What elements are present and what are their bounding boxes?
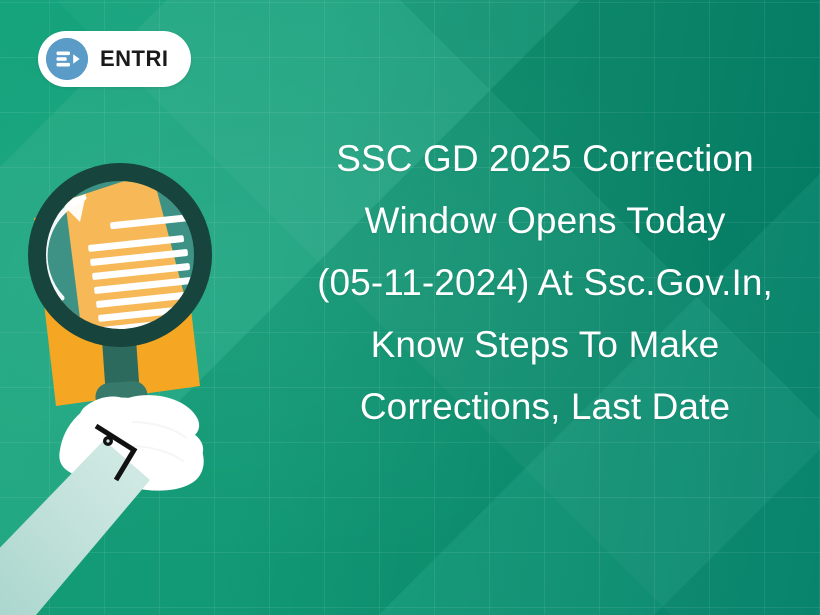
headline-line-1: SSC GD 2025 Correction	[296, 128, 794, 190]
magnifier-illustration	[0, 150, 330, 615]
headline-line-3: (05-11-2024) At Ssc.Gov.In,	[296, 252, 794, 314]
cuff-button-hole	[106, 439, 109, 442]
entri-logo[interactable]: ENTRI	[38, 31, 191, 87]
headline-line-4: Know Steps To Make	[296, 314, 794, 376]
entri-play-e-icon	[46, 38, 88, 80]
headline-line-2: Window Opens Today	[296, 190, 794, 252]
entri-wordmark: ENTRI	[100, 48, 169, 70]
banner-canvas: ENTRI SSC GD 2025 Correction Window Open…	[0, 0, 820, 615]
headline-line-5: Corrections, Last Date	[296, 376, 794, 438]
headline-title: SSC GD 2025 Correction Window Opens Toda…	[296, 128, 794, 438]
